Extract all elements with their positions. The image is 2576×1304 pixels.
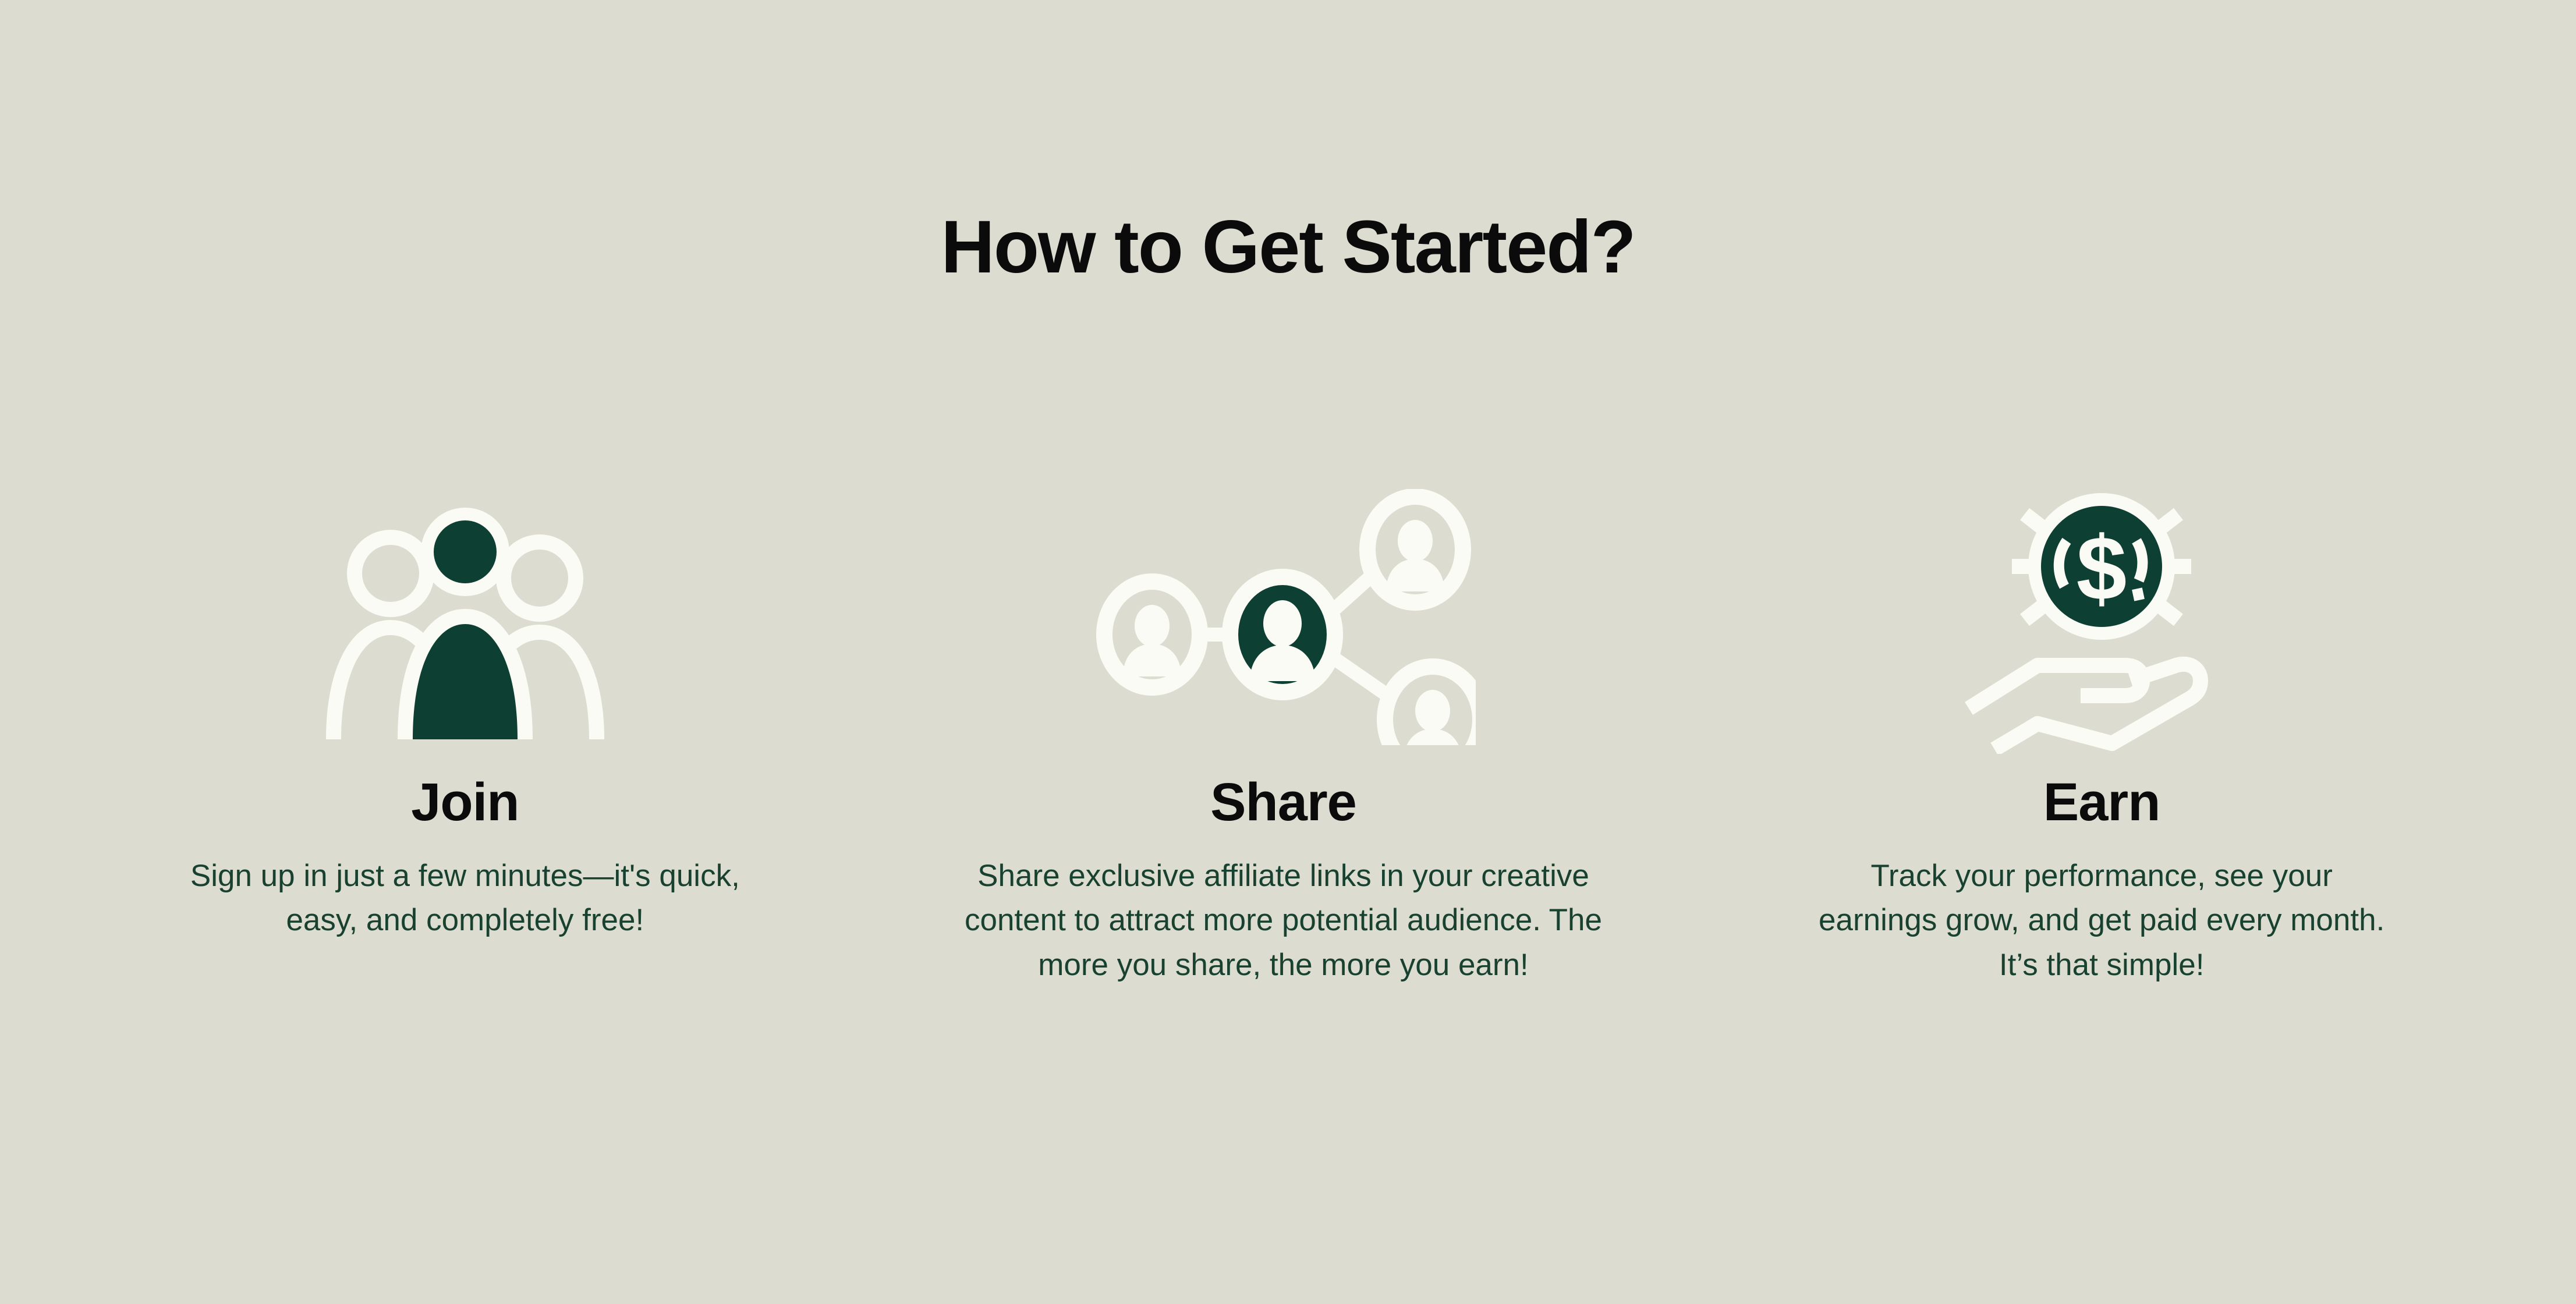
people-group-icon [325,466,605,768]
step-title-join: Join [411,774,519,831]
step-card-share: Share Share exclusive affiliate links in… [874,466,1693,988]
steps-row: Join Sign up in just a few minutes—it's … [0,466,2576,1106]
step-description-share: Share exclusive affiliate links in your … [940,854,1627,988]
svg-text:$: $ [2077,518,2127,619]
step-card-earn: $ Earn Track your performance, see your … [1692,466,2511,988]
step-title-share: Share [1210,774,1356,831]
step-description-earn: Track your performance, see your earning… [1810,854,2393,988]
page-title: How to Get Started? [0,208,2576,286]
how-to-get-started-section: How to Get Started? [0,0,2576,1304]
step-title-earn: Earn [2043,774,2160,831]
network-share-icon [1092,466,1476,768]
step-description-join: Sign up in just a few minutes—it's quick… [180,854,750,944]
step-card-join: Join Sign up in just a few minutes—it's … [56,466,874,943]
coin-in-hand-icon: $ [1956,466,2247,768]
